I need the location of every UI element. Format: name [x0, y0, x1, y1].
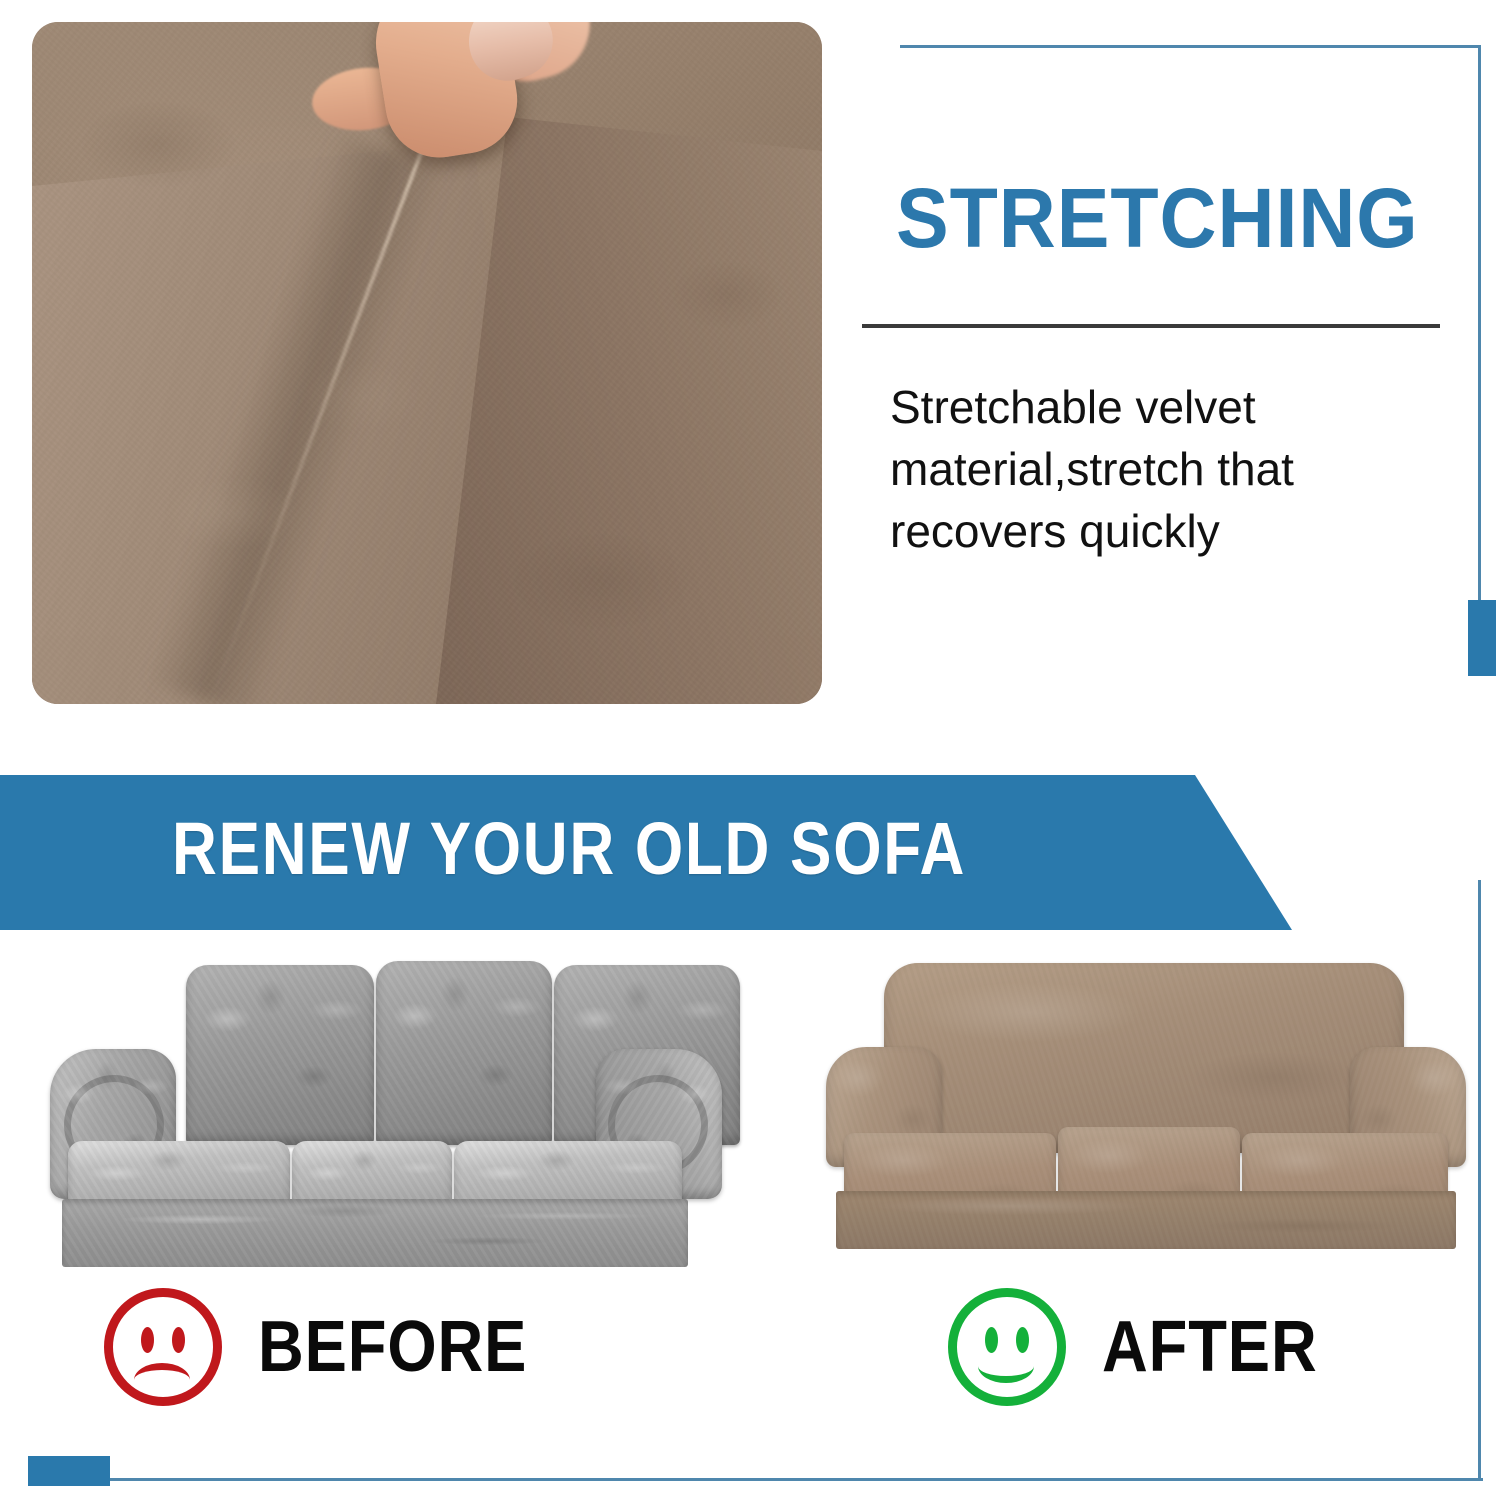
happy-face-icon [948, 1288, 1066, 1406]
sad-face-icon [104, 1288, 222, 1406]
sad-eye-right [172, 1327, 185, 1353]
after-back-slipcover [884, 963, 1404, 1153]
before-label-row: BEFORE [104, 1288, 564, 1406]
happy-mouth [978, 1349, 1034, 1383]
before-sofa-image [40, 955, 700, 1265]
thumb [367, 22, 525, 165]
frame-line-right-upper [1478, 45, 1481, 605]
sad-eye-left [141, 1327, 154, 1353]
infographic-canvas: STRETCHING Stretchable velvet material,s… [0, 0, 1500, 1500]
before-base-skirt [62, 1199, 688, 1267]
after-label-row: AFTER [948, 1288, 1347, 1406]
hand-icon [320, 22, 580, 190]
frame-tab-bottom-left [28, 1456, 110, 1486]
frame-line-top [900, 45, 1480, 48]
frame-tab-right [1468, 600, 1496, 676]
after-label: AFTER [1102, 1311, 1318, 1383]
sad-mouth [134, 1363, 190, 1397]
before-back-cushion-left [186, 965, 374, 1145]
before-back-cushion-center [376, 961, 552, 1145]
fabric-stretch-photo [32, 22, 822, 704]
before-label: BEFORE [258, 1311, 527, 1383]
title-divider [862, 324, 1440, 328]
after-sofa-image [822, 955, 1472, 1245]
section-banner-label: RENEW YOUR OLD SOFA [172, 806, 966, 891]
feature-description: Stretchable velvet material,stretch that… [890, 376, 1450, 562]
frame-line-bottom [95, 1478, 1483, 1481]
thumbnail [458, 22, 563, 91]
frame-line-right-lower [1478, 880, 1481, 1480]
after-base-skirt [836, 1191, 1456, 1249]
page-title: STRETCHING [896, 176, 1422, 260]
